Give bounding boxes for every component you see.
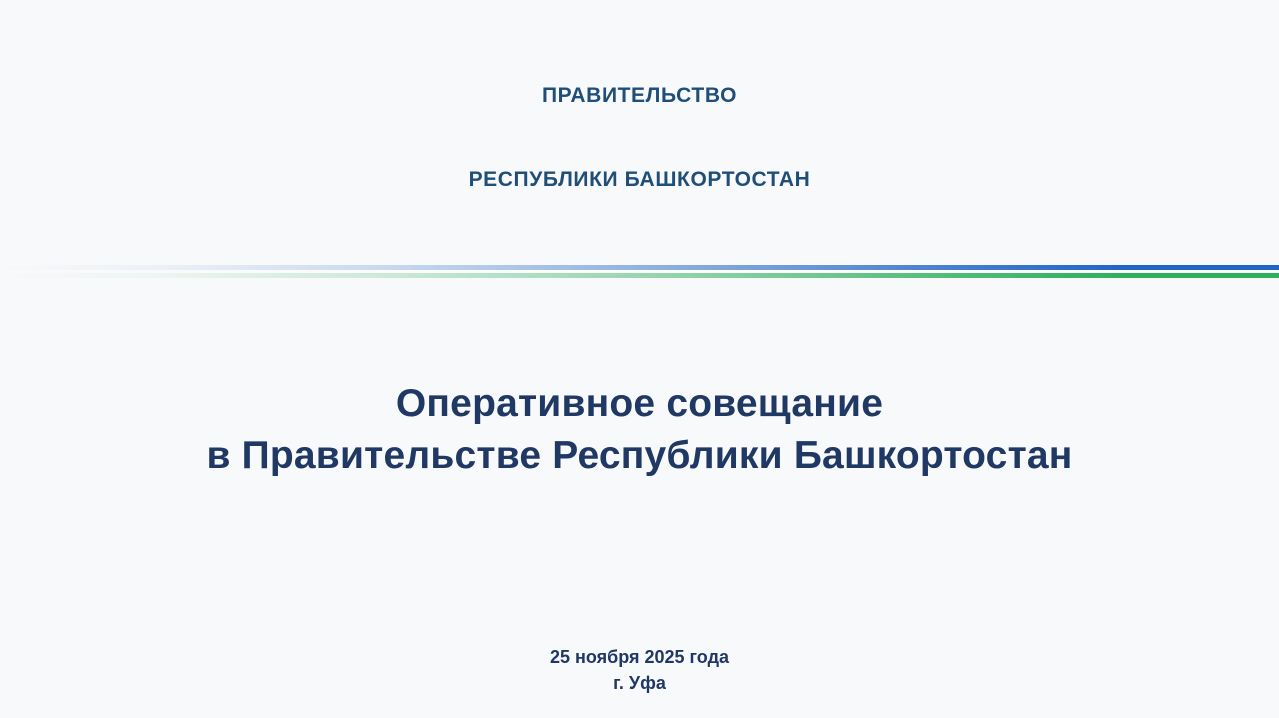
header-divider (0, 258, 1279, 280)
footer-date: 25 ноября 2025 года (0, 644, 1279, 670)
presentation-slide: ПРАВИТЕЛЬСТВО РЕСПУБЛИКИ БАШКОРТОСТАН Оп… (0, 0, 1279, 718)
organization-name-line-1: ПРАВИТЕЛЬСТВО (0, 82, 1279, 110)
page-title-line-2: в Правительстве Республики Башкортостан (0, 430, 1279, 482)
page-title: Оперативное совещание в Правительстве Ре… (0, 378, 1279, 482)
footer-city: г. Уфа (0, 670, 1279, 696)
slide-body: Оперативное совещание в Правительстве Ре… (0, 280, 1279, 643)
organization-name: ПРАВИТЕЛЬСТВО РЕСПУБЛИКИ БАШКОРТОСТАН (0, 26, 1279, 249)
slide-footer: 25 ноября 2025 года г. Уфа (0, 644, 1279, 718)
organization-name-line-2: РЕСПУБЛИКИ БАШКОРТОСТАН (0, 166, 1279, 194)
page-title-line-1: Оперативное совещание (0, 378, 1279, 430)
slide-header: ПРАВИТЕЛЬСТВО РЕСПУБЛИКИ БАШКОРТОСТАН (0, 0, 1279, 249)
divider-green-line (0, 273, 1279, 278)
